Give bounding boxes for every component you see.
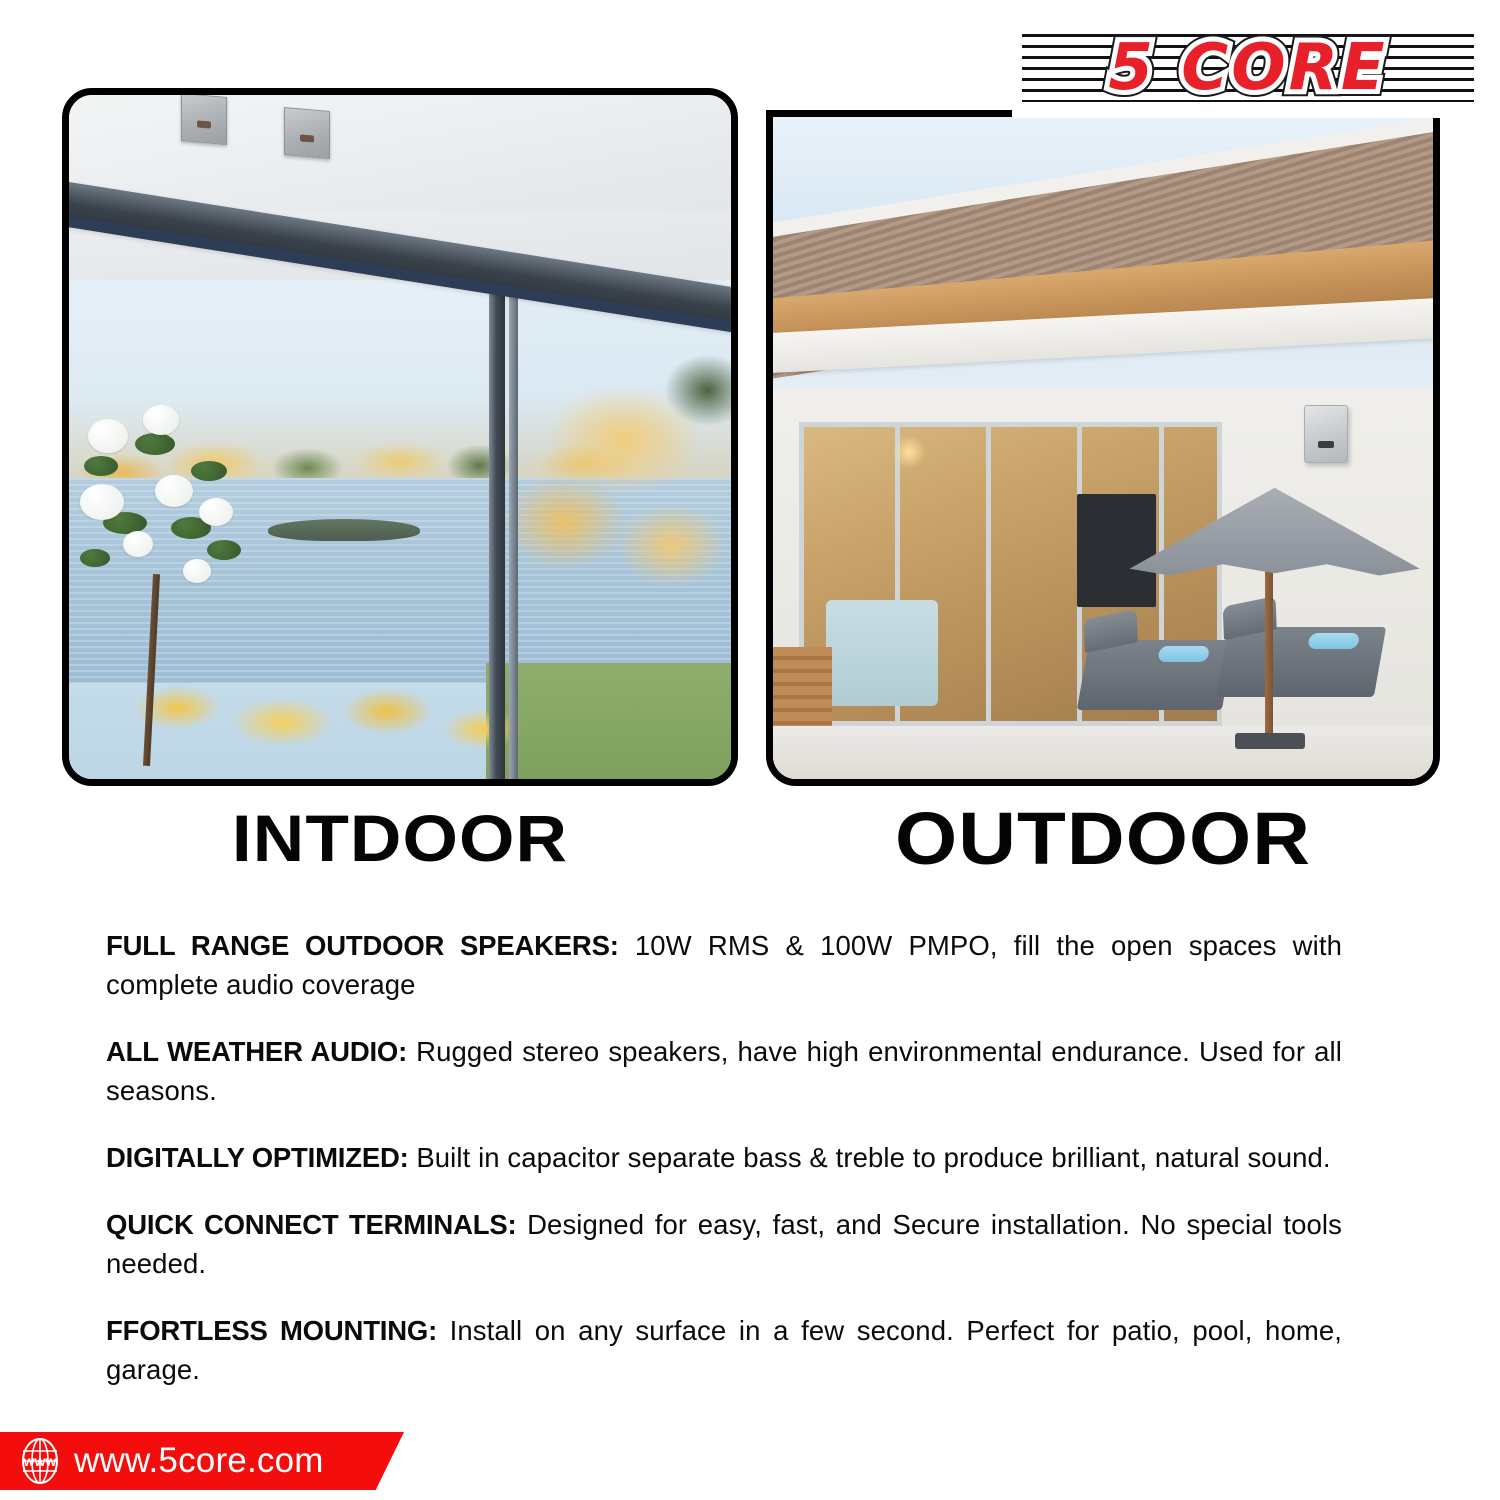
feature-item: ALL WEATHER AUDIO: Rugged stereo speaker… (106, 1032, 1342, 1110)
outdoor-lounger-2 (1216, 627, 1387, 697)
outdoor-image-panel (766, 110, 1440, 786)
indoor-flowering-bush (76, 396, 275, 629)
five-core-logo: 5 CORE 5 CORE 5 CORE (1012, 18, 1484, 118)
outdoor-heading: OUTDOOR (739, 796, 1467, 881)
outdoor-wall-speaker (1304, 405, 1348, 463)
outdoor-towel-2 (1307, 633, 1360, 649)
logo-text-wrap: 5 CORE 5 CORE 5 CORE (1012, 18, 1484, 118)
feature-title: FFORTLESS MOUNTING: (106, 1315, 437, 1346)
indoor-heading: INTDOOR (35, 800, 765, 876)
feature-title: FULL RANGE OUTDOOR SPEAKERS: (106, 930, 619, 961)
footer-url-text[interactable]: www.5core.com (74, 1441, 324, 1481)
indoor-lake-island (268, 519, 420, 541)
feature-title: DIGITALLY OPTIMIZED: (106, 1142, 409, 1173)
svg-text:www: www (23, 1453, 57, 1469)
outdoor-patio-floor (773, 726, 1433, 779)
indoor-door-mullion (489, 239, 505, 779)
feature-title: QUICK CONNECT TERMINALS: (106, 1209, 516, 1240)
indoor-ceiling-speaker-1 (181, 93, 227, 145)
outdoor-interior-sofa (826, 600, 938, 706)
logo-text-fill: 5 CORE (1108, 31, 1387, 105)
feature-item: FFORTLESS MOUNTING: Install on any surfa… (106, 1311, 1342, 1389)
globe-www-icon: www (16, 1437, 64, 1485)
outdoor-wall-tv (1077, 494, 1156, 607)
feature-item: DIGITALLY OPTIMIZED: Built in capacitor … (106, 1138, 1342, 1177)
website-footer-banner[interactable]: www www.5core.com (0, 1432, 404, 1490)
outdoor-towel-1 (1157, 646, 1210, 662)
feature-list: FULL RANGE OUTDOOR SPEAKERS: 10W RMS & 1… (106, 898, 1342, 1389)
indoor-door-mullion-inner (509, 252, 518, 779)
feature-body: Built in capacitor separate bass & trebl… (409, 1142, 1331, 1173)
outdoor-lounger-1 (1077, 640, 1235, 710)
outdoor-umbrella-base (1235, 733, 1305, 749)
feature-title: ALL WEATHER AUDIO: (106, 1036, 407, 1067)
indoor-ceiling-speaker-2 (284, 107, 330, 159)
feature-item: QUICK CONNECT TERMINALS: Designed for ea… (106, 1205, 1342, 1283)
outdoor-interior-lamp-glow (892, 435, 926, 469)
indoor-image-panel (62, 88, 738, 786)
feature-item: FULL RANGE OUTDOOR SPEAKERS: 10W RMS & 1… (106, 926, 1342, 1004)
outdoor-scene (773, 117, 1433, 779)
indoor-scene (69, 95, 731, 779)
